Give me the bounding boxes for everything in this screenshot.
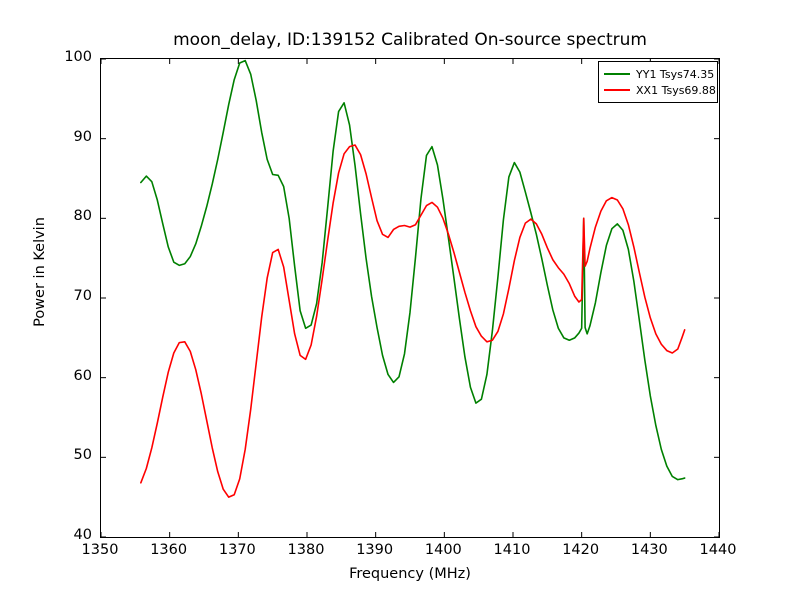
y-axis-label: Power in Kelvin (32, 172, 48, 372)
figure-canvas: moon_delay, ID:139152 Calibrated On-sour… (0, 0, 800, 600)
plot-axes (100, 58, 720, 538)
axis-ticks (101, 59, 719, 537)
legend-label-yy1: YY1 Tsys74.35 (636, 68, 714, 81)
x-tick-label: 1440 (688, 543, 748, 558)
legend-label-xx1: XX1 Tsys69.88 (636, 84, 716, 97)
x-tick-label: 1380 (276, 543, 336, 558)
page-title: moon_delay, ID:139152 Calibrated On-sour… (100, 30, 720, 50)
x-tick-label: 1390 (345, 543, 405, 558)
x-axis-label: Frequency (MHz) (100, 566, 720, 582)
series-line (141, 61, 685, 480)
x-tick-label: 1430 (619, 543, 679, 558)
x-tick-label: 1370 (207, 543, 267, 558)
y-tick-label: 40 (40, 528, 92, 543)
y-tick-label: 100 (40, 50, 92, 65)
x-tick-label: 1350 (70, 543, 130, 558)
legend-item-yy1: YY1 Tsys74.35 (604, 66, 712, 82)
y-tick-label: 50 (40, 448, 92, 463)
legend-swatch-yy1 (604, 73, 630, 75)
legend-item-xx1: XX1 Tsys69.88 (604, 82, 712, 98)
y-tick-label: 90 (40, 130, 92, 145)
x-tick-label: 1400 (413, 543, 473, 558)
spectrum-plot (101, 59, 719, 537)
x-tick-label: 1420 (551, 543, 611, 558)
x-tick-label: 1410 (482, 543, 542, 558)
data-series-layer (141, 61, 685, 498)
legend-box: YY1 Tsys74.35 XX1 Tsys69.88 (598, 61, 718, 103)
series-line (141, 145, 685, 497)
legend-swatch-xx1 (604, 89, 630, 91)
x-tick-label: 1360 (139, 543, 199, 558)
